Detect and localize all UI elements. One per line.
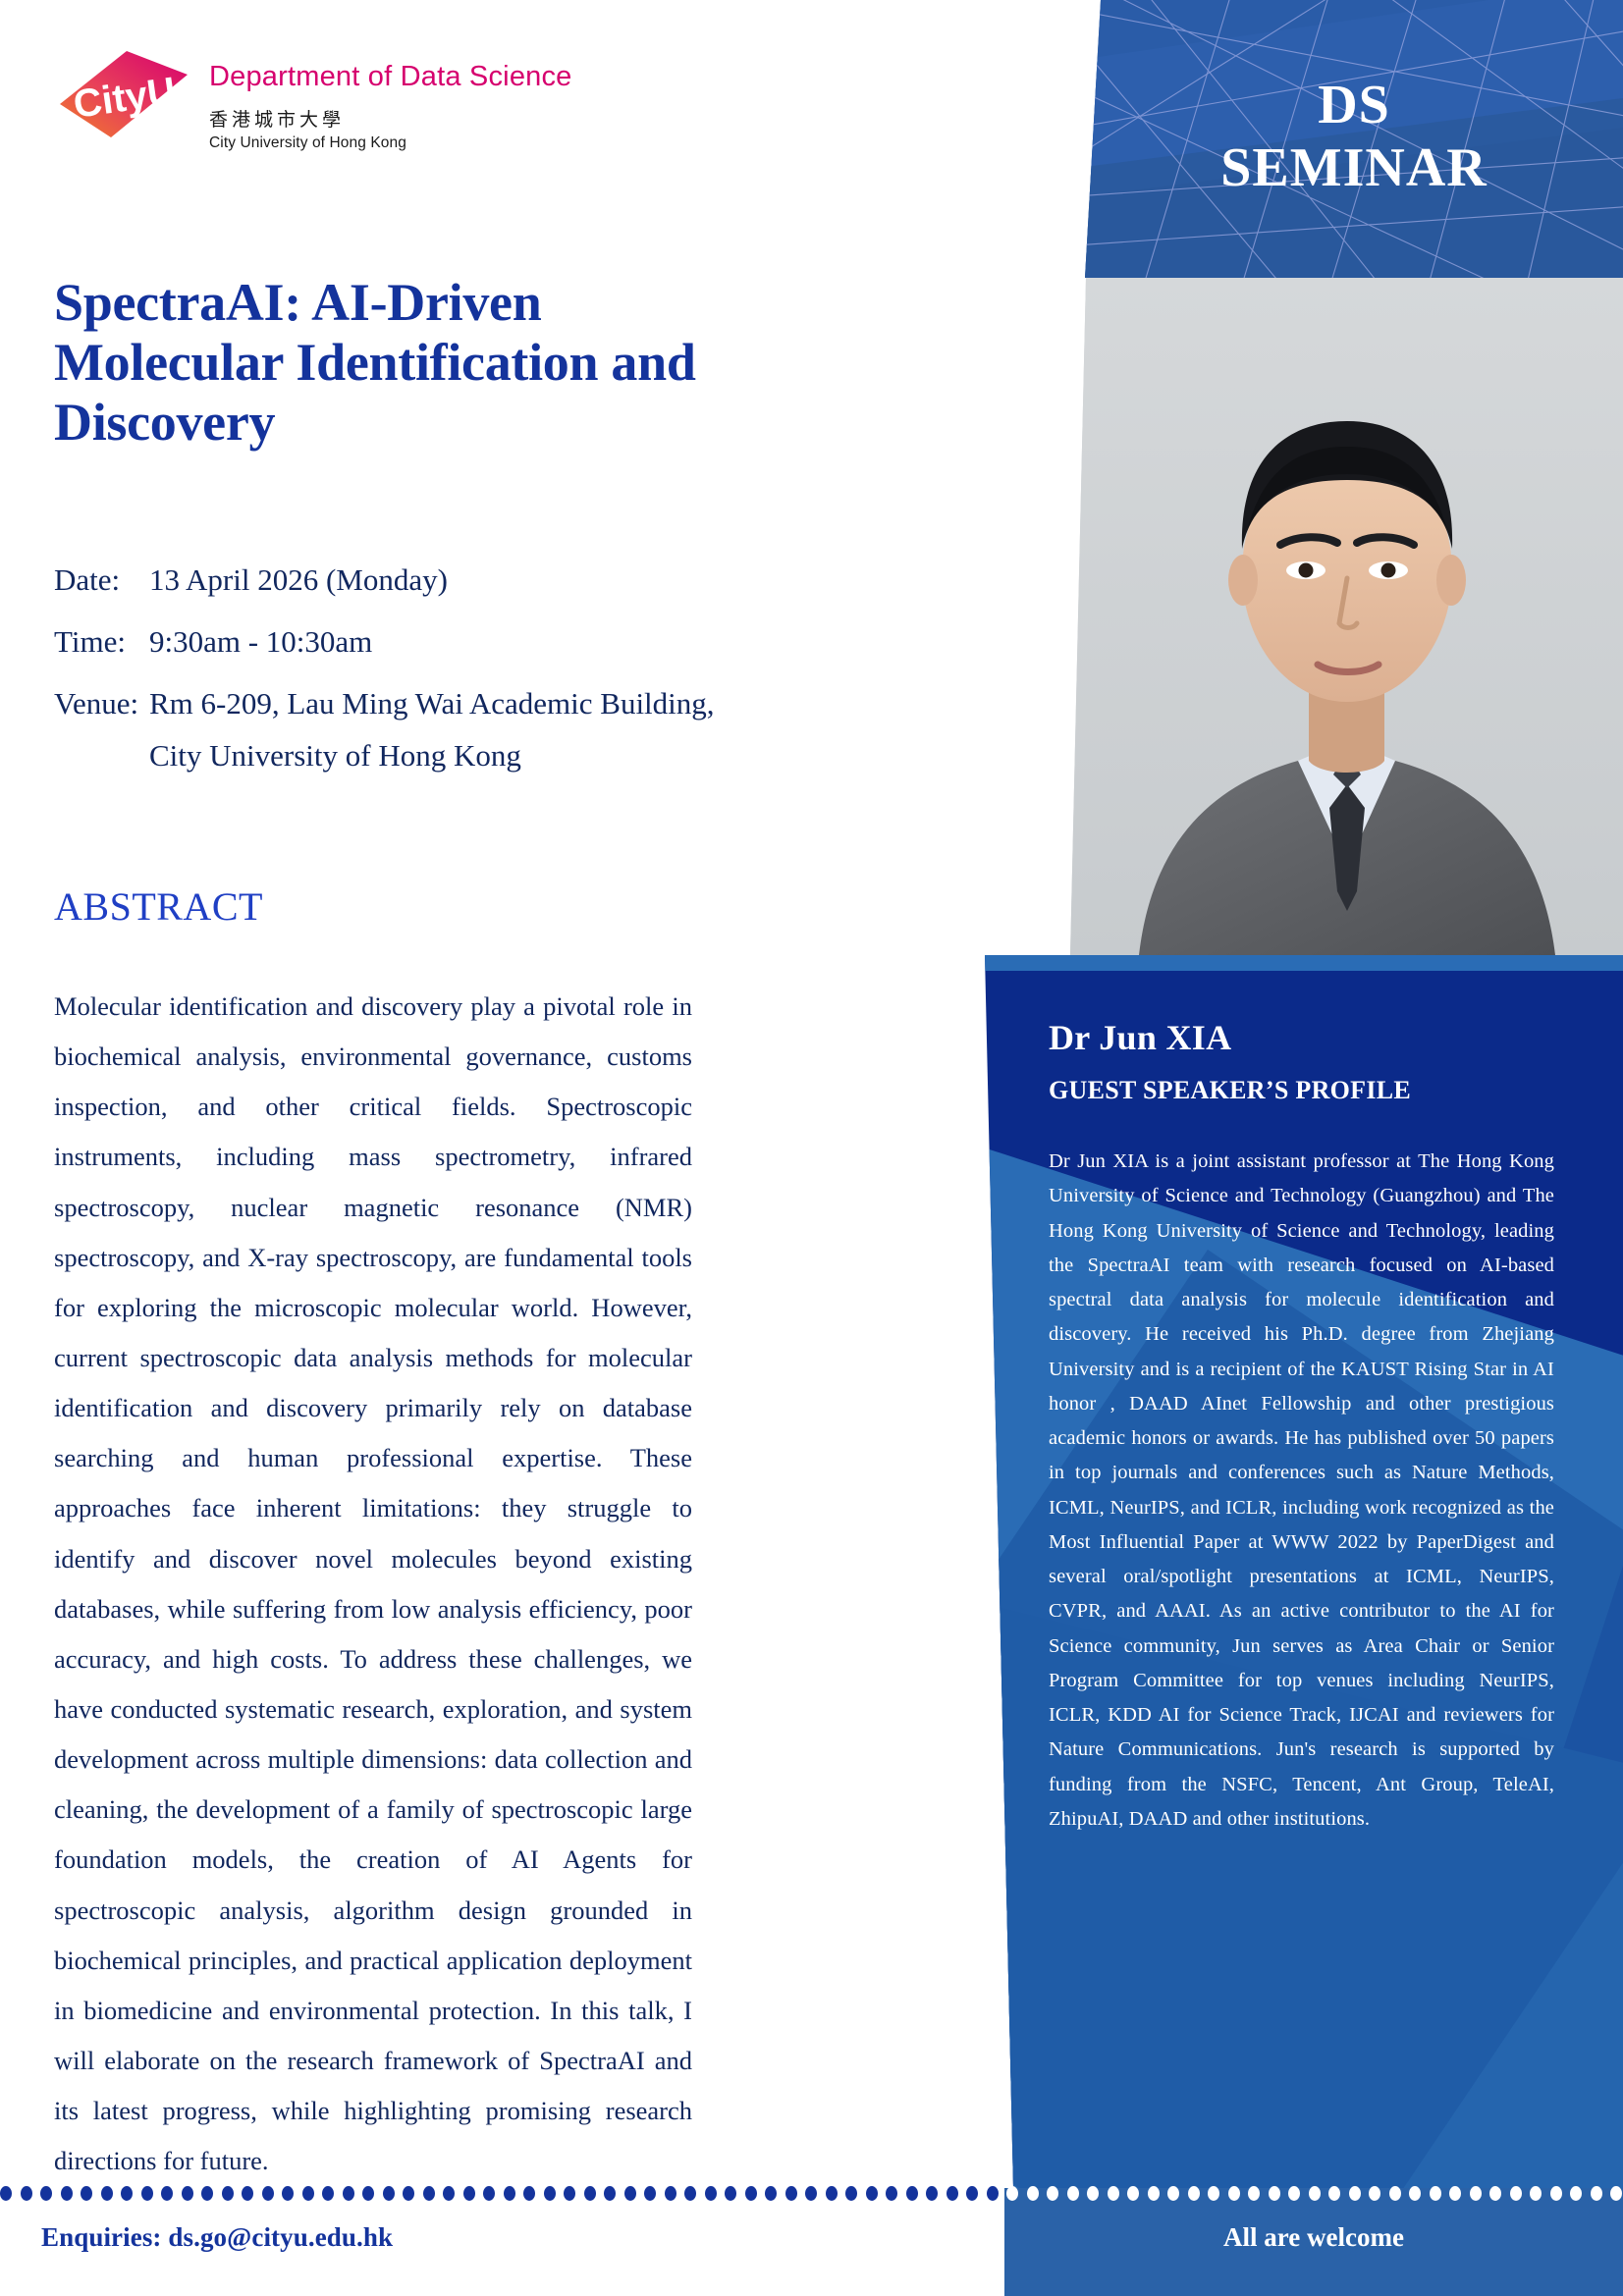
divider-dot bbox=[302, 2186, 314, 2201]
divider-dot bbox=[1208, 2186, 1219, 2201]
divider-dot bbox=[906, 2186, 918, 2201]
divider-dot bbox=[242, 2186, 253, 2201]
divider-dot bbox=[1570, 2186, 1582, 2201]
divider-dot bbox=[1269, 2186, 1280, 2201]
divider-dot bbox=[0, 2186, 12, 2201]
divider-dot bbox=[61, 2186, 73, 2201]
svg-text:CityU: CityU bbox=[71, 70, 179, 127]
seminar-details: Date: 13 April 2026 (Monday) Time: 9:30a… bbox=[54, 564, 722, 802]
detail-value-date: 13 April 2026 (Monday) bbox=[149, 564, 722, 595]
ds-line-2: SEMINAR bbox=[1220, 137, 1487, 200]
divider-dot bbox=[504, 2186, 515, 2201]
divider-dot bbox=[322, 2186, 334, 2201]
divider-dot bbox=[1430, 2186, 1441, 2201]
divider-dot bbox=[21, 2186, 32, 2201]
divider-dot bbox=[262, 2186, 274, 2201]
divider-dot bbox=[1409, 2186, 1421, 2201]
seminar-title: SpectraAI: AI-Driven Molecular Identific… bbox=[54, 273, 702, 453]
divider-dot bbox=[705, 2186, 717, 2201]
divider-dot bbox=[725, 2186, 736, 2201]
divider-dot bbox=[886, 2186, 897, 2201]
divider-dot bbox=[1127, 2186, 1139, 2201]
divider-dot bbox=[684, 2186, 696, 2201]
divider-dot bbox=[1027, 2186, 1039, 2201]
divider-dot bbox=[1006, 2186, 1018, 2201]
divider-dot bbox=[1309, 2186, 1321, 2201]
divider-dot bbox=[1470, 2186, 1482, 2201]
dotted-divider-left bbox=[0, 2184, 1006, 2202]
abstract-heading: ABSTRACT bbox=[54, 883, 263, 930]
divider-dot bbox=[523, 2186, 535, 2201]
divider-dot bbox=[1087, 2186, 1099, 2201]
divider-dot bbox=[805, 2186, 817, 2201]
ds-seminar-header-panel: DS SEMINAR bbox=[1085, 0, 1623, 278]
divider-dot bbox=[282, 2186, 294, 2201]
divider-dot bbox=[182, 2186, 193, 2201]
divider-dot bbox=[423, 2186, 435, 2201]
venue-line-2: City University of Hong Kong bbox=[149, 740, 722, 771]
detail-row-date: Date: 13 April 2026 (Monday) bbox=[54, 564, 722, 595]
department-name: Department of Data Science bbox=[209, 61, 572, 93]
divider-dot bbox=[1610, 2186, 1622, 2201]
divider-dot bbox=[343, 2186, 354, 2201]
enquiries-text[interactable]: Enquiries: ds.go@cityu.edu.hk bbox=[41, 2222, 393, 2253]
venue-line-1: Rm 6-209, Lau Ming Wai Academic Building… bbox=[149, 686, 715, 721]
detail-label-time: Time: bbox=[54, 626, 149, 657]
university-name-chinese: 香港城市大學 bbox=[209, 105, 572, 132]
divider-dot bbox=[443, 2186, 455, 2201]
divider-dot bbox=[845, 2186, 857, 2201]
divider-dot bbox=[403, 2186, 414, 2201]
speaker-bio: Dr Jun XIA is a joint assistant professo… bbox=[1049, 1145, 1554, 1837]
detail-label-venue: Venue: bbox=[54, 688, 149, 771]
divider-dot bbox=[1288, 2186, 1300, 2201]
divider-dot bbox=[544, 2186, 556, 2201]
divider-dot bbox=[141, 2186, 153, 2201]
footer-dotted-divider bbox=[0, 2184, 1623, 2202]
divider-dot bbox=[624, 2186, 636, 2201]
cityu-logo-icon: CityU bbox=[54, 47, 191, 140]
divider-dot bbox=[1369, 2186, 1380, 2201]
ds-seminar-title: DS SEMINAR bbox=[1085, 0, 1623, 278]
divider-dot bbox=[1148, 2186, 1160, 2201]
divider-dot bbox=[1489, 2186, 1501, 2201]
divider-dot bbox=[1188, 2186, 1200, 2201]
detail-value-time: 9:30am - 10:30am bbox=[149, 626, 722, 657]
divider-dot bbox=[1228, 2186, 1240, 2201]
divider-dot bbox=[926, 2186, 938, 2201]
divider-dot bbox=[121, 2186, 133, 2201]
divider-dot bbox=[101, 2186, 113, 2201]
detail-label-date: Date: bbox=[54, 564, 149, 595]
divider-dot bbox=[463, 2186, 475, 2201]
speaker-portrait-image bbox=[1070, 278, 1623, 955]
logo-text-block: Department of Data Science 香港城市大學 City U… bbox=[209, 47, 572, 152]
detail-value-venue: Rm 6-209, Lau Ming Wai Academic Building… bbox=[149, 688, 722, 771]
divider-dot bbox=[665, 2186, 676, 2201]
divider-dot bbox=[1530, 2186, 1542, 2201]
divider-dot bbox=[826, 2186, 838, 2201]
divider-dot bbox=[1550, 2186, 1562, 2201]
speaker-name: Dr Jun XIA bbox=[1049, 1017, 1554, 1058]
speaker-photo bbox=[1070, 278, 1623, 955]
divider-dot bbox=[81, 2186, 92, 2201]
divider-dot bbox=[604, 2186, 616, 2201]
divider-dot bbox=[1047, 2186, 1058, 2201]
divider-dot bbox=[1349, 2186, 1361, 2201]
divider-dot bbox=[1389, 2186, 1401, 2201]
speaker-profile-panel: Dr Jun XIA GUEST SPEAKER’S PROFILE Dr Ju… bbox=[962, 955, 1623, 2188]
divider-dot bbox=[1067, 2186, 1079, 2201]
divider-dot bbox=[383, 2186, 395, 2201]
all-are-welcome-text: All are welcome bbox=[1004, 2222, 1623, 2253]
divider-dot bbox=[161, 2186, 173, 2201]
divider-dot bbox=[584, 2186, 596, 2201]
divider-dot bbox=[785, 2186, 797, 2201]
divider-dot bbox=[1248, 2186, 1260, 2201]
profile-content: Dr Jun XIA GUEST SPEAKER’S PROFILE Dr Ju… bbox=[962, 955, 1623, 2188]
divider-dot bbox=[1328, 2186, 1340, 2201]
divider-dot bbox=[201, 2186, 213, 2201]
divider-dot bbox=[362, 2186, 374, 2201]
divider-dot bbox=[987, 2186, 999, 2201]
divider-dot bbox=[1449, 2186, 1461, 2201]
university-name-english: City University of Hong Kong bbox=[209, 134, 572, 152]
detail-row-venue: Venue: Rm 6-209, Lau Ming Wai Academic B… bbox=[54, 688, 722, 771]
divider-dot bbox=[947, 2186, 958, 2201]
divider-dot bbox=[966, 2186, 978, 2201]
divider-dot bbox=[40, 2186, 52, 2201]
cityu-logo-lockup: CityU Department of Data Science 香港城市大學 … bbox=[54, 47, 572, 152]
divider-dot bbox=[1108, 2186, 1119, 2201]
divider-dot bbox=[564, 2186, 575, 2201]
divider-dot bbox=[745, 2186, 757, 2201]
divider-dot bbox=[1510, 2186, 1522, 2201]
dotted-divider-right bbox=[1006, 2184, 1623, 2202]
abstract-body: Molecular identification and discovery p… bbox=[54, 982, 692, 2186]
divider-dot bbox=[1591, 2186, 1602, 2201]
divider-dot bbox=[644, 2186, 656, 2201]
divider-dot bbox=[222, 2186, 234, 2201]
divider-dot bbox=[483, 2186, 495, 2201]
divider-dot bbox=[866, 2186, 878, 2201]
ds-line-1: DS bbox=[1318, 75, 1390, 137]
speaker-role-label: GUEST SPEAKER’S PROFILE bbox=[1049, 1076, 1554, 1105]
divider-dot bbox=[1167, 2186, 1179, 2201]
detail-row-time: Time: 9:30am - 10:30am bbox=[54, 626, 722, 657]
divider-dot bbox=[765, 2186, 777, 2201]
